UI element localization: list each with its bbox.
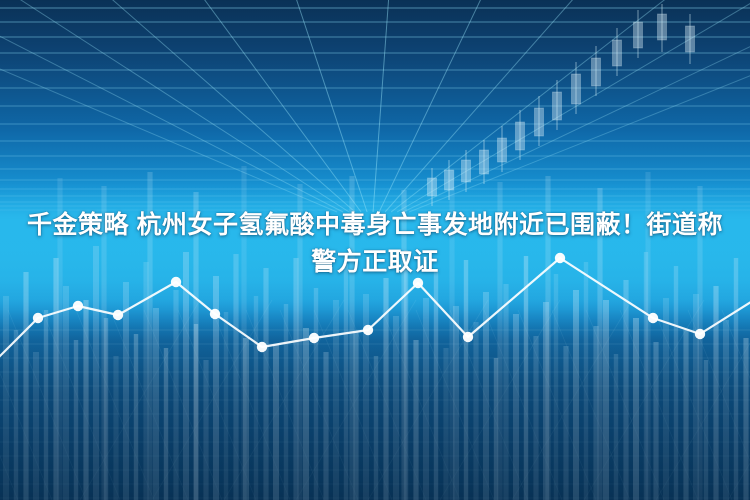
trend-line-graphic — [0, 0, 750, 500]
news-banner-image: 千金策略 杭州女子氢氟酸中毒身亡事发地附近已围蔽！街道称 警方正取证 — [0, 0, 750, 500]
